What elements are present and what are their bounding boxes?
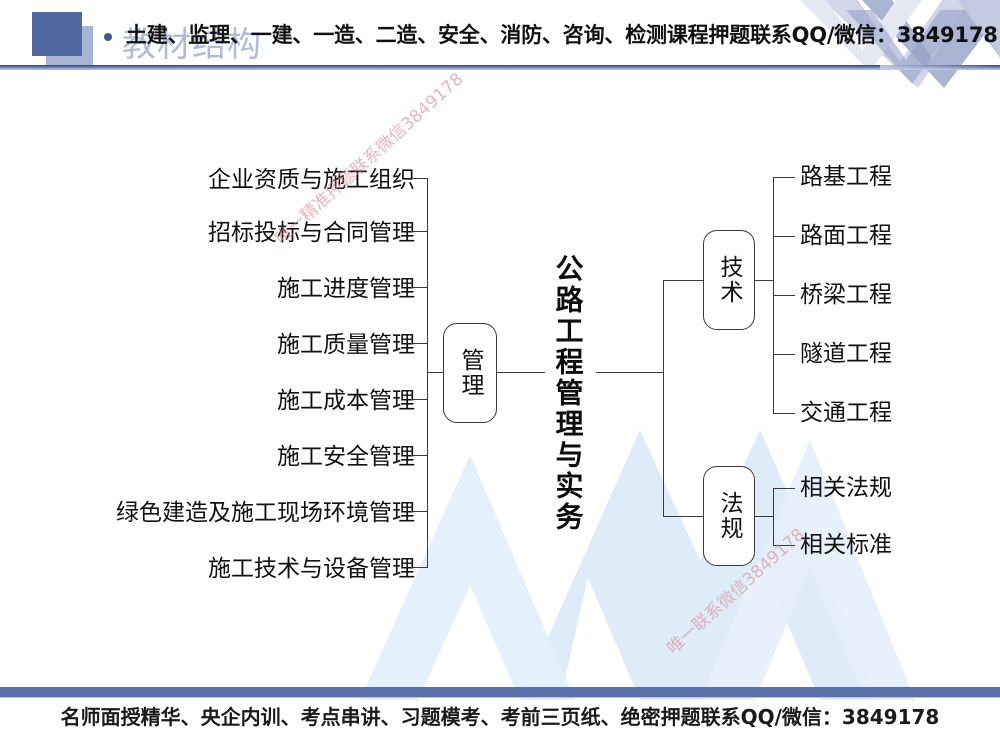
node-box-jishu[interactable]: 技术 [703,230,755,330]
connector-jishu-to-bracket [755,280,774,281]
connector-left-stub-8 [411,567,428,568]
header-divider-fade [880,65,1000,70]
connector-fagui-to-bracket [755,516,774,517]
connector-left-stub-2 [411,231,428,232]
node-box-jishu-label: 技术 [716,255,742,305]
connector-right-stub-1 [773,177,795,178]
connector-right-spine [663,280,664,516]
header-divider-rule [0,65,1000,70]
leaf-label-fagui-1: 相关法规 [800,475,892,501]
connector-left-stub-7 [411,511,428,512]
leaf-label-right-3: 桥梁工程 [800,282,892,308]
connector-right-stub-5 [773,413,795,414]
leaf-label-right-4: 隧道工程 [800,341,892,367]
node-box-fagui-label: 法规 [716,491,742,541]
node-box-fagui[interactable]: 法规 [703,466,755,566]
connector-left-to-guanli [427,372,443,373]
connector-center-to-right [596,372,664,373]
connector-fagui-stub-1 [773,488,795,489]
leaf-label-left-7: 绿色建造及施工现场环境管理 [116,500,415,526]
slide-canvas: 教材结构 土建、监理、一建、一造、二造、安全、消防、咨询、检测课程押题联系QQ/… [0,0,1000,750]
connector-right-stub-3 [773,295,795,296]
connector-spine-to-fagui [663,516,703,517]
center-title: 公路工程管理与实务 [546,228,590,558]
connector-left-stub-4 [411,343,428,344]
connector-left-stub-3 [411,287,428,288]
leaf-label-right-1: 路基工程 [800,164,892,190]
footer-bar [0,687,1000,698]
footer-promo-text: 名师面授精华、央企内训、考点串讲、习题模考、考前三页纸、绝密押题联系QQ/微信：… [0,703,1000,731]
connector-guanli-to-center [497,372,545,373]
header-promo-text: 土建、监理、一建、一造、二造、安全、消防、咨询、检测课程押题联系QQ/微信：38… [126,22,998,48]
mindmap-diagram: 企业资质与施工组织 招标投标与合同管理 施工进度管理 施工质量管理 施工成本管理… [0,80,1000,680]
leaf-label-left-8: 施工技术与设备管理 [208,556,415,582]
node-box-guanli[interactable]: 管理 [443,323,497,423]
connector-right-stub-2 [773,236,795,237]
node-box-guanli-label: 管理 [457,348,483,398]
decor-square-dark [32,12,82,56]
leaf-label-fagui-2: 相关标准 [800,532,892,558]
decor-square-light [46,26,93,66]
leaf-label-left-5: 施工成本管理 [277,388,415,414]
connector-right-stub-4 [773,354,795,355]
connector-left-stub-1 [411,178,428,179]
leaf-label-right-5: 交通工程 [800,400,892,426]
connector-left-stub-6 [411,455,428,456]
leaf-label-left-4: 施工质量管理 [277,332,415,358]
header-bullet-icon [104,33,112,41]
leaf-label-left-3: 施工进度管理 [277,276,415,302]
connector-spine-to-jishu [663,280,703,281]
leaf-label-right-2: 路面工程 [800,223,892,249]
connector-left-stub-5 [411,399,428,400]
leaf-label-left-6: 施工安全管理 [277,444,415,470]
